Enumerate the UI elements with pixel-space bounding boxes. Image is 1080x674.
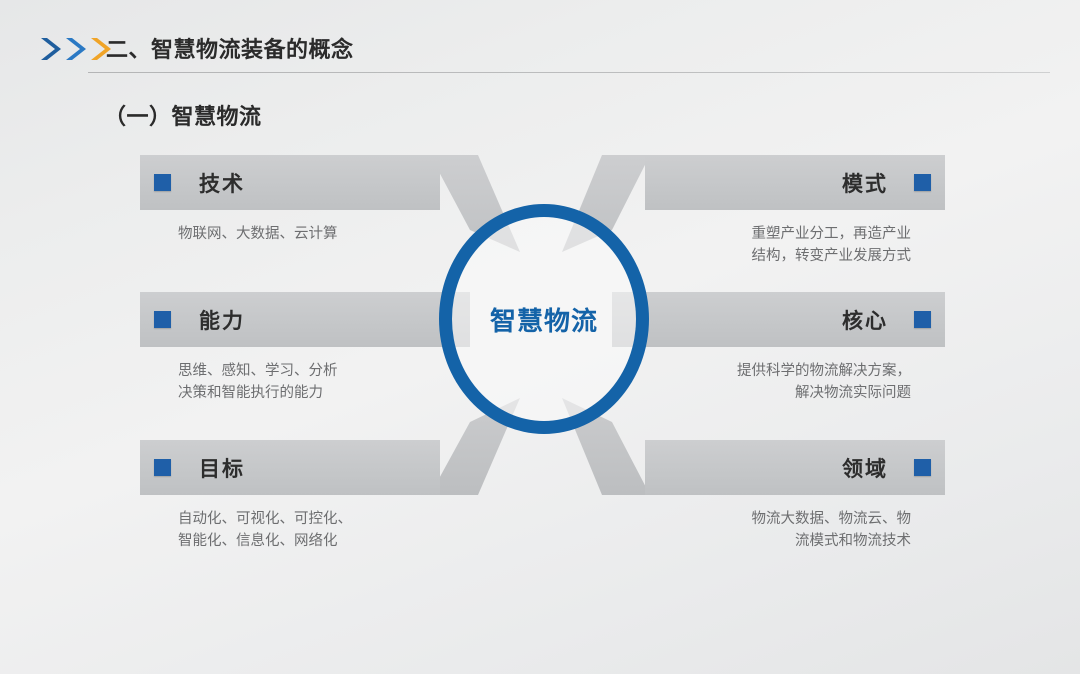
- square-bullet-icon: [154, 174, 171, 191]
- panel-heading: 技术: [199, 168, 245, 198]
- panel-left-technology[interactable]: 技术 物联网、大数据、云计算: [140, 155, 440, 246]
- square-bullet-icon: [154, 311, 171, 328]
- page-title: 二、智慧物流装备的概念: [106, 32, 354, 64]
- panel-header-bar: 模式: [645, 155, 945, 210]
- panel-heading: 能力: [199, 305, 245, 335]
- chevron-triple-icon: [38, 36, 114, 62]
- panel-heading: 核心: [842, 305, 888, 335]
- panel-heading: 目标: [199, 453, 245, 483]
- title-divider: [88, 72, 1050, 73]
- panel-heading: 领域: [842, 453, 888, 483]
- panel-header-bar: 技术: [140, 155, 440, 210]
- slide-header: 二、智慧物流装备的概念 （一）智慧物流: [0, 0, 1080, 90]
- panel-heading: 模式: [842, 168, 888, 198]
- panel-description: 重塑产业分工，再造产业 结构，转变产业发展方式: [645, 224, 945, 268]
- panel-left-goal[interactable]: 目标 自动化、可视化、可控化、 智能化、信息化、网络化: [140, 440, 440, 553]
- smart-logistics-diagram: 技术 物联网、大数据、云计算 能力 思维、感知、学习、分析 决策和智能执行的能力…: [0, 140, 1080, 580]
- panel-left-capability[interactable]: 能力 思维、感知、学习、分析 决策和智能执行的能力: [140, 292, 440, 405]
- square-bullet-icon: [914, 311, 931, 328]
- center-node-label: 智慧物流: [490, 301, 598, 338]
- panel-description: 物流大数据、物流云、物 流模式和物流技术: [645, 509, 945, 553]
- subsection-title: （一）智慧物流: [104, 99, 262, 131]
- square-bullet-icon: [914, 459, 931, 476]
- panel-header-bar: 能力: [140, 292, 440, 347]
- panel-right-field[interactable]: 领域 物流大数据、物流云、物 流模式和物流技术: [645, 440, 945, 553]
- panel-right-core[interactable]: 核心 提供科学的物流解决方案， 解决物流实际问题: [645, 292, 945, 405]
- square-bullet-icon: [154, 459, 171, 476]
- panel-right-mode[interactable]: 模式 重塑产业分工，再造产业 结构，转变产业发展方式: [645, 155, 945, 268]
- panel-header-bar: 目标: [140, 440, 440, 495]
- panel-description: 物联网、大数据、云计算: [140, 224, 440, 246]
- square-bullet-icon: [914, 174, 931, 191]
- center-node[interactable]: 智慧物流: [439, 204, 649, 434]
- panel-header-bar: 领域: [645, 440, 945, 495]
- panel-description: 提供科学的物流解决方案， 解决物流实际问题: [645, 361, 945, 405]
- chevron-right-icon-1: [38, 36, 62, 62]
- panel-description: 自动化、可视化、可控化、 智能化、信息化、网络化: [140, 509, 440, 553]
- chevron-right-icon-2: [63, 36, 87, 62]
- panel-description: 思维、感知、学习、分析 决策和智能执行的能力: [140, 361, 440, 405]
- panel-header-bar: 核心: [645, 292, 945, 347]
